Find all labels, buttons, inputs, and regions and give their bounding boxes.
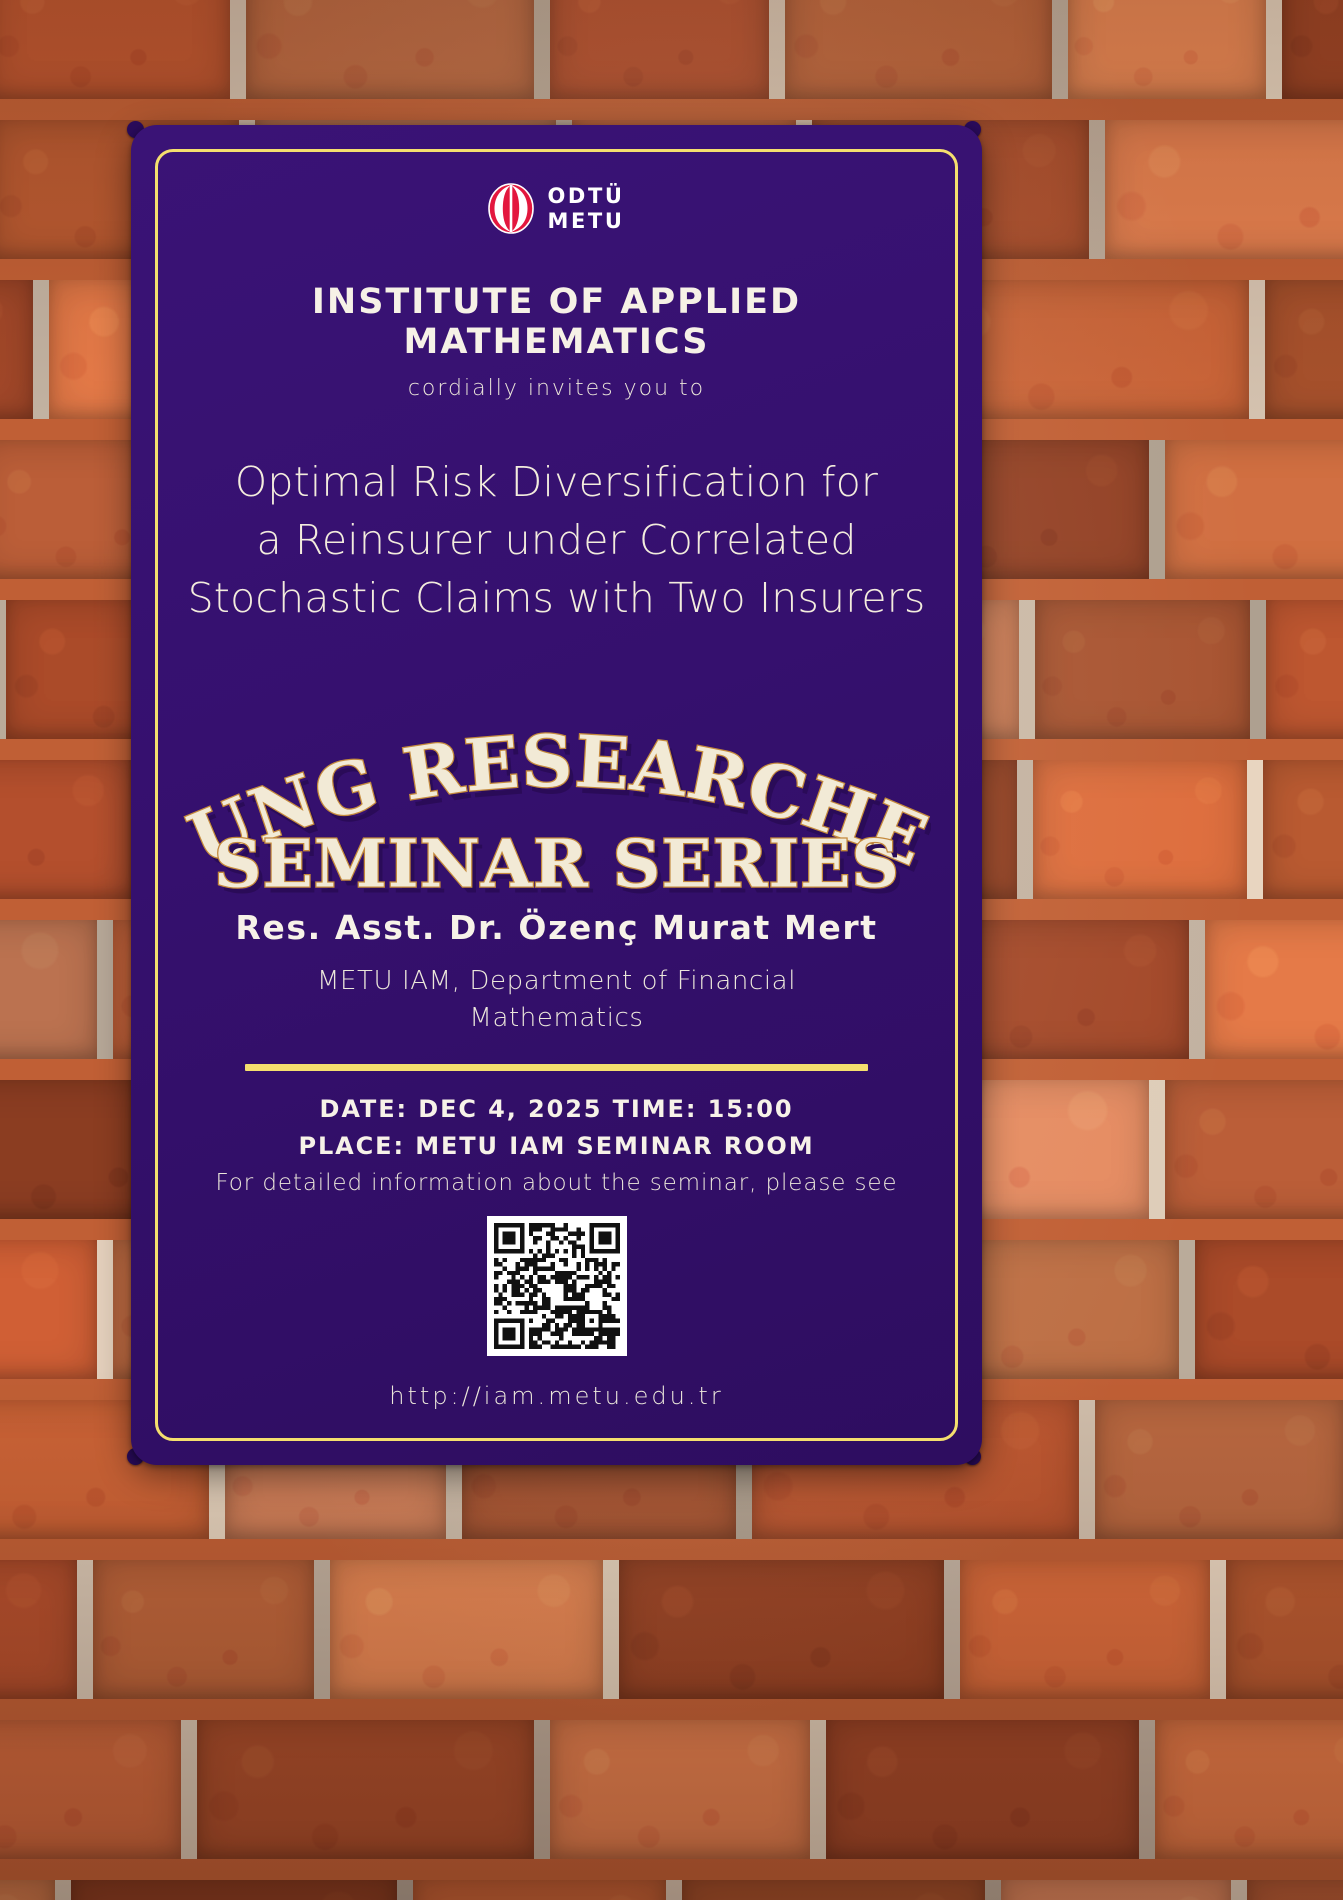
seminar-title-line-1: Optimal Risk Diversification for (183, 453, 930, 511)
seminar-title: Optimal Risk Diversification for a Reins… (183, 453, 930, 628)
poster-screenshot: ODTÜ METU INSTITUTE OF APPLIED MATHEMATI… (0, 0, 1343, 1900)
speaker-affiliation: METU IAM, Department of Financial Mathem… (183, 963, 930, 1038)
metu-logo-mark-icon (488, 183, 534, 234)
more-info-line: For detailed information about the semin… (183, 1170, 930, 1196)
series-headline: YOUNG RESEARCHERS YOUNG RESEARCHERS SEMI… (183, 672, 930, 902)
speaker-affiliation-line-2: Mathematics (217, 1000, 896, 1038)
seminar-title-line-3: Stochastic Claims with Two Insurers (183, 569, 930, 627)
institute-title: INSTITUTE OF APPLIED MATHEMATICS (183, 282, 930, 362)
series-line-2: SEMINAR SERIES (214, 824, 900, 902)
seminar-poster: ODTÜ METU INSTITUTE OF APPLIED MATHEMATI… (131, 125, 982, 1465)
speaker-name: Res. Asst. Dr. Özenç Murat Mert (183, 908, 930, 947)
logo-word-odtu: ODTÜ (547, 186, 624, 207)
logo-word-metu: METU (547, 211, 624, 232)
gold-divider (245, 1064, 868, 1071)
seminar-title-line-2: a Reinsurer under Correlated (183, 511, 930, 569)
metu-logo-wordmark: ODTÜ METU (547, 186, 624, 232)
poster-content: ODTÜ METU INSTITUTE OF APPLIED MATHEMATI… (131, 125, 982, 1465)
qr-code[interactable] (487, 1216, 627, 1356)
website-url[interactable]: http://iam.metu.edu.tr (183, 1382, 930, 1410)
place-line: PLACE: METU IAM SEMINAR ROOM (183, 1132, 930, 1160)
date-time-line: DATE: DEC 4, 2025 TIME: 15:00 (183, 1095, 930, 1123)
metu-logo: ODTÜ METU (183, 125, 930, 234)
speaker-affiliation-line-1: METU IAM, Department of Financial (217, 963, 896, 1001)
invitation-line: cordially invites you to (183, 376, 930, 401)
